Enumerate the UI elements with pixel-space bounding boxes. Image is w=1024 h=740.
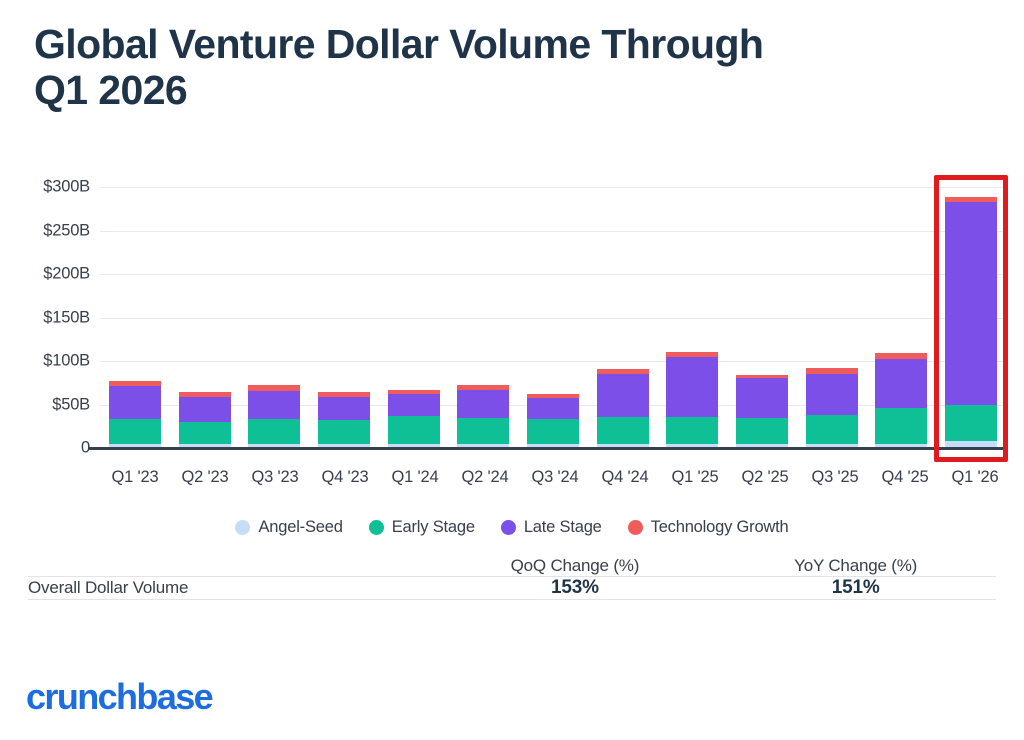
- legend-label: Late Stage: [524, 518, 602, 537]
- y-axis-tick-label: $300B: [43, 178, 90, 197]
- bar-segment-late-stage: [457, 390, 509, 418]
- bar-slot[interactable]: [100, 187, 170, 448]
- x-axis-tick-2: Q2 '23: [170, 468, 240, 487]
- x-axis-tick-13: Q1 '26: [940, 468, 1010, 487]
- summary-header-row: QoQ Change (%) YoY Change (%): [28, 556, 996, 577]
- bar-segment-late-stage: [875, 359, 927, 408]
- x-axis-tick-12: Q4 '25: [870, 468, 940, 487]
- legend-swatch-icon: [628, 520, 643, 535]
- bar-slot[interactable]: [448, 187, 518, 448]
- stacked-bar[interactable]: [388, 390, 440, 448]
- bar-segment-early-stage: [736, 418, 788, 444]
- x-axis-tick-7: Q3 '24: [520, 468, 590, 487]
- table-row: Overall Dollar Volume 153% 151%: [28, 577, 996, 600]
- bar-segment-late-stage: [248, 391, 300, 420]
- stacked-bar[interactable]: [179, 392, 231, 448]
- stacked-bar[interactable]: [109, 381, 161, 448]
- y-axis-tick-label: $150B: [43, 308, 90, 327]
- bar-segment-late-stage: [736, 378, 788, 417]
- x-axis-tick-6: Q2 '24: [450, 468, 520, 487]
- stacked-bar[interactable]: [527, 394, 579, 448]
- stacked-bar[interactable]: [666, 352, 718, 448]
- legend-item-technology-growth[interactable]: Technology Growth: [628, 518, 789, 537]
- stacked-bar[interactable]: [736, 375, 788, 448]
- bar-segment-early-stage: [109, 419, 161, 443]
- summary-row-yoy: 151%: [715, 577, 996, 600]
- bar-segment-late-stage: [388, 394, 440, 416]
- x-axis-tick-3: Q3 '23: [240, 468, 310, 487]
- summary-row-label: Overall Dollar Volume: [28, 577, 435, 600]
- bar-slot[interactable]: [309, 187, 379, 448]
- legend-item-late-stage[interactable]: Late Stage: [501, 518, 602, 537]
- bar-slot[interactable]: [867, 187, 937, 448]
- bar-slot[interactable]: [170, 187, 240, 448]
- y-axis-tick-label: $200B: [43, 265, 90, 284]
- bar-segment-early-stage: [179, 422, 231, 444]
- bar-slot[interactable]: [239, 187, 309, 448]
- summary-col-qoq: QoQ Change (%): [435, 556, 716, 577]
- bar-segment-early-stage: [457, 418, 509, 444]
- bar-slot[interactable]: [518, 187, 588, 448]
- bar-segment-late-stage: [109, 386, 161, 419]
- legend-label: Early Stage: [392, 518, 475, 537]
- bar-segment-early-stage: [388, 416, 440, 444]
- legend-swatch-icon: [501, 520, 516, 535]
- summary-col-yoy: YoY Change (%): [715, 556, 996, 577]
- crunchbase-logo: crunchbase: [26, 676, 212, 718]
- bar-slot[interactable]: [658, 187, 728, 448]
- stacked-bar[interactable]: [945, 197, 997, 448]
- y-axis-tick-label: $250B: [43, 221, 90, 240]
- legend-label: Technology Growth: [651, 518, 789, 537]
- bar-segment-early-stage: [248, 419, 300, 443]
- stacked-bar[interactable]: [597, 369, 649, 448]
- stacked-bar[interactable]: [457, 385, 509, 448]
- bar-segment-late-stage: [179, 397, 231, 422]
- bar-segment-late-stage: [318, 397, 370, 420]
- bar-segment-late-stage: [597, 374, 649, 417]
- bar-slot[interactable]: [727, 187, 797, 448]
- summary-row-qoq: 153%: [435, 577, 716, 600]
- bar-segment-late-stage: [527, 398, 579, 420]
- stacked-bar[interactable]: [875, 353, 927, 448]
- bar-segment-late-stage: [945, 202, 997, 405]
- x-axis-tick-4: Q4 '23: [310, 468, 380, 487]
- summary-table-wrapper: QoQ Change (%) YoY Change (%) Overall Do…: [28, 556, 996, 600]
- bar-segment-late-stage: [806, 374, 858, 415]
- bar-segment-early-stage: [527, 419, 579, 443]
- summary-table: QoQ Change (%) YoY Change (%) Overall Do…: [28, 556, 996, 600]
- stacked-bar[interactable]: [806, 368, 858, 448]
- summary-col-label: [28, 556, 435, 577]
- bar-segment-late-stage: [666, 357, 718, 417]
- page-title: Global Venture Dollar Volume Through Q1 …: [34, 22, 974, 114]
- bar-slot[interactable]: [797, 187, 867, 448]
- bar-slot[interactable]: [936, 187, 1006, 448]
- chart-legend: Angel-SeedEarly StageLate StageTechnolog…: [0, 518, 1024, 537]
- x-axis-tick-9: Q1 '25: [660, 468, 730, 487]
- stacked-bar[interactable]: [318, 392, 370, 448]
- x-axis-tick-11: Q3 '25: [800, 468, 870, 487]
- bar-segment-early-stage: [666, 417, 718, 444]
- bar-segment-early-stage: [875, 408, 927, 444]
- y-axis-tick-label: $100B: [43, 352, 90, 371]
- x-axis-tick-1: Q1 '23: [100, 468, 170, 487]
- legend-swatch-icon: [235, 520, 250, 535]
- chart-container: $300B$250B$200B$150B$100B$50B0: [34, 170, 1020, 470]
- x-axis-tick-8: Q4 '24: [590, 468, 660, 487]
- bar-slot[interactable]: [379, 187, 449, 448]
- y-axis-tick-label: $50B: [52, 395, 90, 414]
- bar-slot[interactable]: [588, 187, 658, 448]
- x-axis-tick-10: Q2 '25: [730, 468, 800, 487]
- legend-item-early-stage[interactable]: Early Stage: [369, 518, 475, 537]
- axis-baseline: [88, 447, 1006, 450]
- stacked-bar[interactable]: [248, 385, 300, 448]
- bar-segment-early-stage: [597, 417, 649, 444]
- legend-swatch-icon: [369, 520, 384, 535]
- bar-segment-early-stage: [806, 415, 858, 444]
- bar-segment-early-stage: [318, 420, 370, 443]
- x-axis-tick-5: Q1 '24: [380, 468, 450, 487]
- bar-segment-early-stage: [945, 405, 997, 442]
- legend-label: Angel-Seed: [258, 518, 342, 537]
- x-axis-labels: Q1 '23Q2 '23Q3 '23Q4 '23Q1 '24Q2 '24Q3 '…: [100, 468, 1010, 487]
- legend-item-angel-seed[interactable]: Angel-Seed: [235, 518, 342, 537]
- bar-group: [100, 187, 1006, 448]
- plot-area: $300B$250B$200B$150B$100B$50B0: [100, 187, 1006, 448]
